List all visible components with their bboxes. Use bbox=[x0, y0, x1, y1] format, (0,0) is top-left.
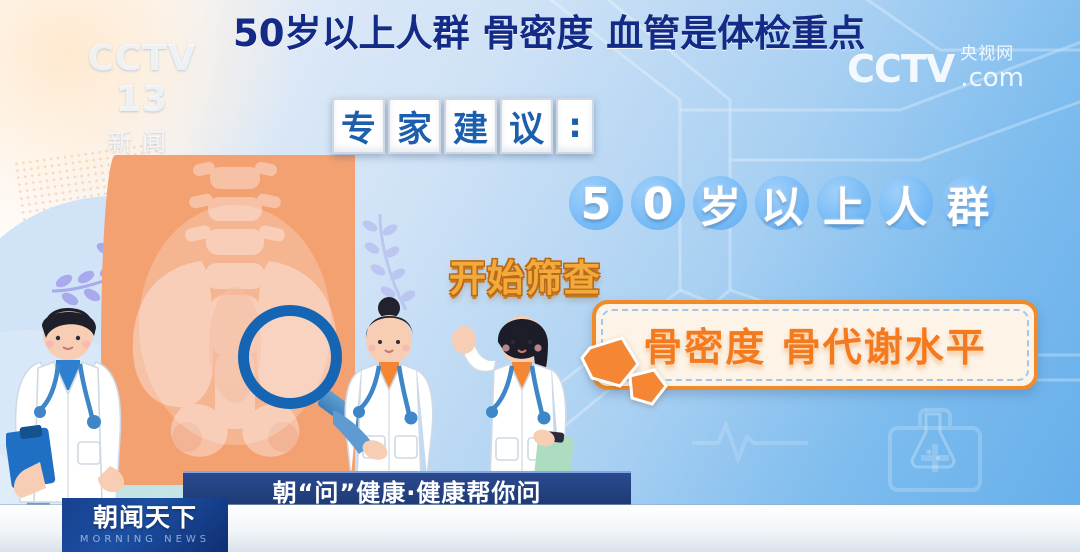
program-strap-text: 朝“问”健康·健康帮你问 bbox=[273, 473, 542, 508]
audience-char: 群 bbox=[938, 173, 998, 235]
audience-char-text: 以 bbox=[761, 174, 803, 235]
expert-label-char: 家 bbox=[388, 98, 441, 154]
headline-text: 50岁以上人群 骨密度 血管是体检重点 bbox=[233, 3, 865, 57]
expert-label-colon: : bbox=[556, 98, 594, 154]
channel-watermark-subtitle: 新闻 bbox=[62, 122, 222, 157]
audience-char-text: 0 bbox=[643, 179, 674, 230]
channel-watermark-name: CCTV 13 bbox=[62, 38, 222, 120]
channel-watermark: CCTV 13 新闻 bbox=[62, 38, 222, 157]
magnifier-icon bbox=[238, 305, 342, 409]
audience-char-text: 岁 bbox=[699, 174, 741, 235]
site-watermark: CCTV 央视网 .com bbox=[847, 46, 1024, 91]
expert-label-char: 专 bbox=[332, 98, 385, 154]
magnifier-ring bbox=[238, 305, 342, 409]
audience-char-text: 上 bbox=[823, 174, 865, 235]
audience-char: 人 bbox=[876, 173, 936, 235]
audience-char-text: 人 bbox=[885, 174, 927, 235]
action-line: 开始筛查 bbox=[449, 248, 601, 302]
broadcast-frame: 专 家 建 议 : 5 0 岁 以 上 人 群 开始筛查 骨密度 骨代谢水平 C… bbox=[0, 0, 1080, 552]
program-logo: 朝闻天下 MORNING NEWS bbox=[62, 498, 228, 552]
audience-char-text: 群 bbox=[947, 174, 989, 235]
program-logo-cn: 朝闻天下 bbox=[93, 505, 197, 530]
expert-label-char: 建 bbox=[444, 98, 497, 154]
program-logo-en: MORNING NEWS bbox=[80, 534, 210, 545]
program-strap: 朝“问”健康·健康帮你问 bbox=[183, 471, 631, 507]
site-watermark-cn: 央视网 bbox=[960, 46, 1024, 63]
audience-char: 5 bbox=[566, 173, 626, 235]
audience-char-text: 5 bbox=[581, 179, 612, 230]
expert-advice-label: 专 家 建 议 : bbox=[332, 98, 594, 154]
flask-icon bbox=[905, 408, 961, 470]
audience-char: 上 bbox=[814, 173, 874, 235]
doctor-illustration-female-waving bbox=[452, 298, 580, 500]
orange-stars-decor bbox=[578, 328, 688, 408]
audience-line: 5 0 岁 以 上 人 群 bbox=[566, 173, 998, 235]
expert-label-char: 议 bbox=[500, 98, 553, 154]
audience-char: 以 bbox=[752, 173, 812, 235]
audience-char: 岁 bbox=[690, 173, 750, 235]
audience-char: 0 bbox=[628, 173, 688, 235]
site-watermark-com: .com bbox=[960, 65, 1024, 91]
heartbeat-icon bbox=[690, 415, 810, 465]
